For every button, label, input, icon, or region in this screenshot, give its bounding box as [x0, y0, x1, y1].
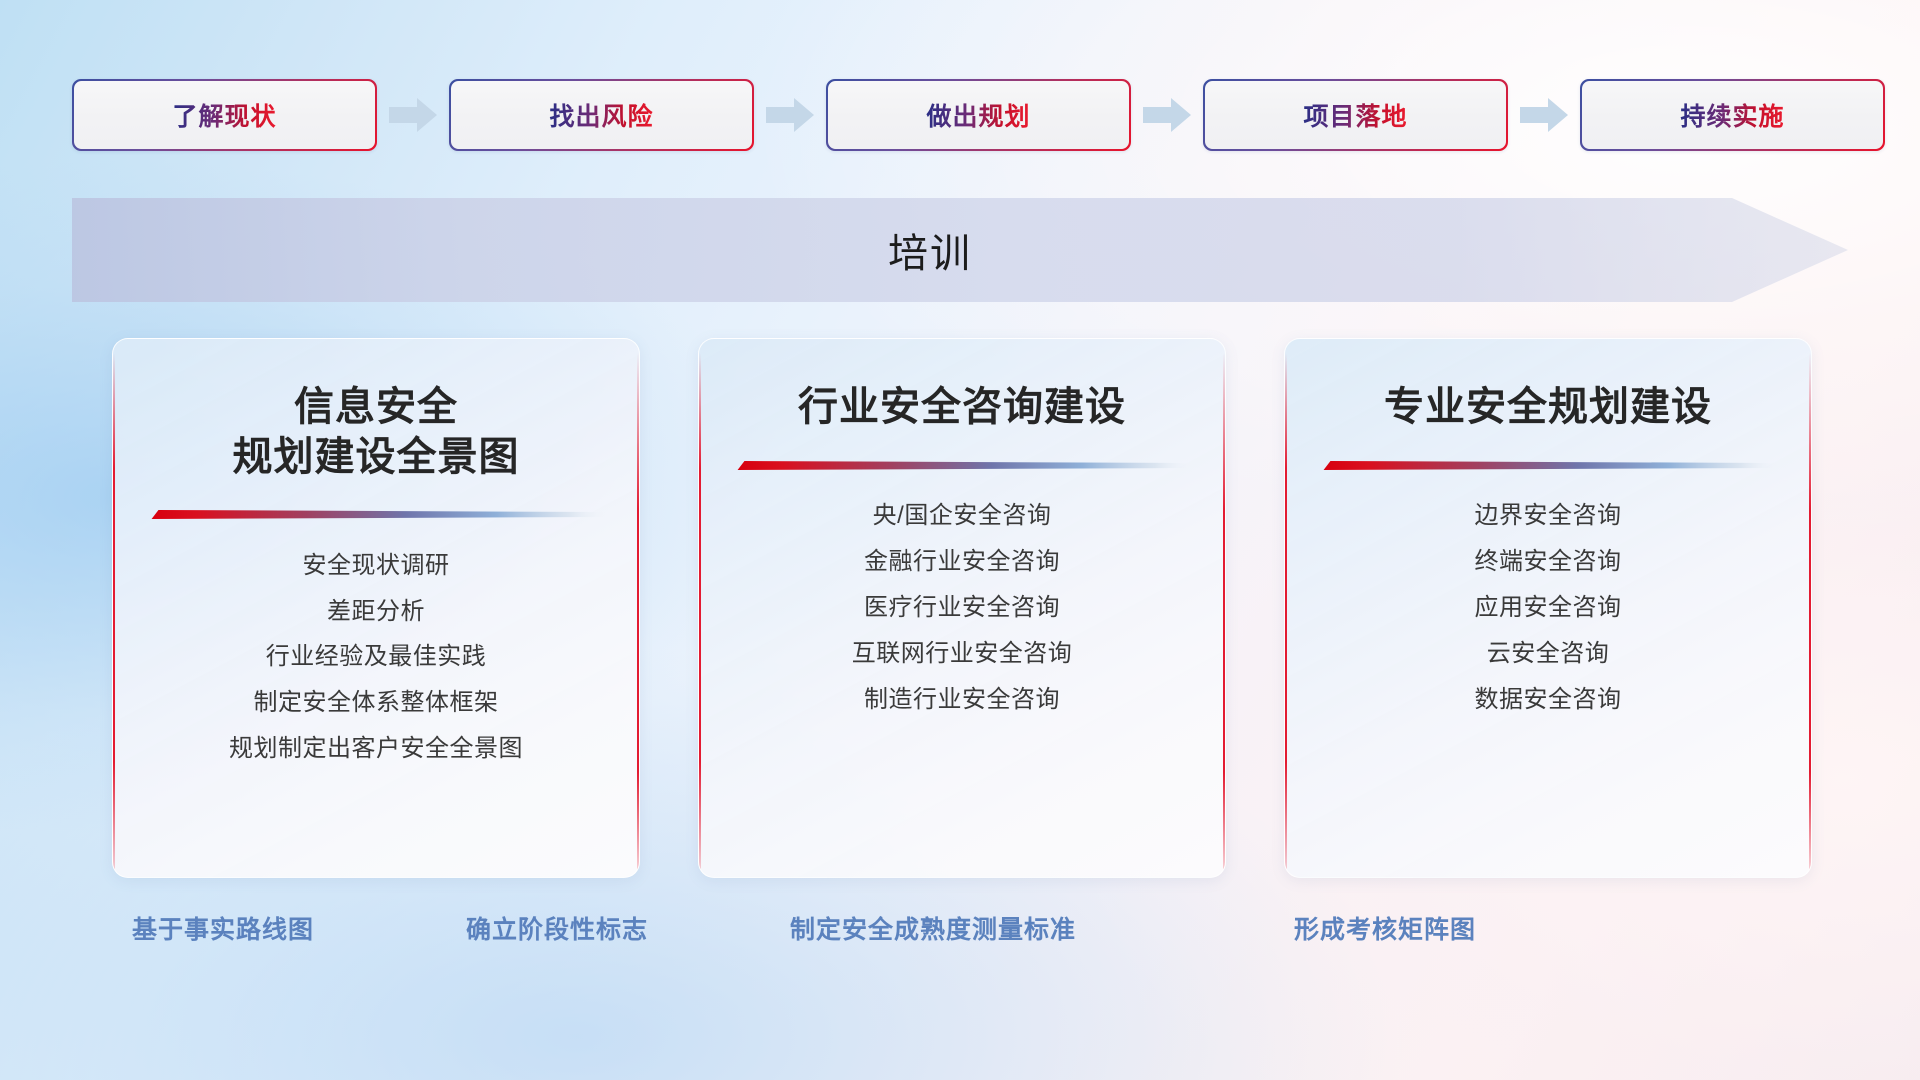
list-item: 互联网行业安全咨询: [733, 631, 1191, 677]
process-step-inner: 了解现状: [74, 81, 376, 150]
process-step-label: 做出规划: [926, 97, 1030, 133]
arrow-right-icon: [766, 98, 814, 132]
service-card-2[interactable]: 行业安全咨询建设央/国企安全咨询金融行业安全咨询医疗行业安全咨询互联网行业安全咨…: [698, 338, 1226, 878]
service-card-list: 安全现状调研差距分析行业经验及最佳实践制定安全体系整体框架规划制定出客户安全全景…: [147, 543, 605, 772]
service-card-body: 信息安全规划建设全景图安全现状调研差距分析行业经验及最佳实践制定安全体系整体框架…: [113, 339, 639, 877]
list-item: 金融行业安全咨询: [733, 539, 1191, 585]
service-card-body: 专业安全规划建设边界安全咨询终端安全咨询应用安全咨询云安全咨询数据安全咨询: [1285, 339, 1811, 877]
process-step-inner: 持续实施: [1582, 81, 1884, 150]
process-step-3[interactable]: 做出规划: [826, 79, 1131, 151]
process-step-4[interactable]: 项目落地: [1203, 79, 1508, 151]
list-item: 制造行业安全咨询: [733, 677, 1191, 723]
training-banner: 培训: [72, 198, 1848, 302]
list-item: 医疗行业安全咨询: [733, 585, 1191, 631]
list-item: 安全现状调研: [147, 543, 605, 589]
service-card-title-line1: 行业安全咨询建设: [798, 385, 1126, 429]
list-item: 边界安全咨询: [1319, 494, 1777, 540]
card-row: 信息安全规划建设全景图安全现状调研差距分析行业经验及最佳实践制定安全体系整体框架…: [112, 338, 1812, 878]
caption-4: 形成考核矩阵图: [1294, 910, 1476, 946]
service-card-title: 专业安全规划建设: [1384, 383, 1712, 433]
gradient-divider-icon: [733, 459, 1191, 472]
list-item: 终端安全咨询: [1319, 539, 1777, 585]
process-step-5[interactable]: 持续实施: [1580, 79, 1885, 151]
arrow-right-icon: [1143, 98, 1191, 132]
list-item: 制定安全体系整体框架: [147, 681, 605, 727]
process-step-label: 持续实施: [1680, 97, 1784, 133]
list-item: 差距分析: [147, 589, 605, 635]
slide-canvas: 了解现状找出风险做出规划项目落地持续实施 培训 信息安全规划建设全景图安全现状调…: [0, 0, 1920, 1080]
caption-2: 确立阶段性标志: [466, 910, 648, 946]
process-step-row: 了解现状找出风险做出规划项目落地持续实施: [72, 76, 1848, 154]
service-card-title-line2: 规划建设全景图: [233, 433, 520, 483]
process-step-label: 找出风险: [549, 97, 653, 133]
service-card-title: 信息安全规划建设全景图: [233, 383, 520, 482]
caption-3: 制定安全成熟度测量标准: [790, 910, 1076, 946]
service-card-title-line1: 专业安全规划建设: [1384, 385, 1712, 429]
list-item: 应用安全咨询: [1319, 585, 1777, 631]
service-card-body: 行业安全咨询建设央/国企安全咨询金融行业安全咨询医疗行业安全咨询互联网行业安全咨…: [699, 339, 1225, 877]
process-step-label: 项目落地: [1303, 97, 1407, 133]
caption-1: 基于事实路线图: [132, 910, 314, 946]
process-step-1[interactable]: 了解现状: [72, 79, 377, 151]
list-item: 云安全咨询: [1319, 631, 1777, 677]
gradient-divider-icon: [1319, 459, 1777, 472]
service-card-title: 行业安全咨询建设: [798, 383, 1126, 433]
service-card-list: 边界安全咨询终端安全咨询应用安全咨询云安全咨询数据安全咨询: [1319, 494, 1777, 723]
service-card-1[interactable]: 信息安全规划建设全景图安全现状调研差距分析行业经验及最佳实践制定安全体系整体框架…: [112, 338, 640, 878]
process-step-inner: 项目落地: [1205, 81, 1507, 150]
gradient-divider-icon: [147, 508, 605, 521]
caption-row: 基于事实路线图确立阶段性标志制定安全成熟度测量标准形成考核矩阵图: [0, 910, 1920, 960]
list-item: 规划制定出客户安全全景图: [147, 727, 605, 773]
service-card-list: 央/国企安全咨询金融行业安全咨询医疗行业安全咨询互联网行业安全咨询制造行业安全咨…: [733, 494, 1191, 723]
banner-title: 培训: [72, 198, 1848, 302]
list-item: 数据安全咨询: [1319, 677, 1777, 723]
list-item: 行业经验及最佳实践: [147, 635, 605, 681]
process-step-2[interactable]: 找出风险: [449, 79, 754, 151]
service-card-3[interactable]: 专业安全规划建设边界安全咨询终端安全咨询应用安全咨询云安全咨询数据安全咨询: [1284, 338, 1812, 878]
arrow-right-icon: [389, 98, 437, 132]
process-step-inner: 找出风险: [451, 81, 753, 150]
list-item: 央/国企安全咨询: [733, 494, 1191, 540]
process-step-inner: 做出规划: [828, 81, 1130, 150]
arrow-right-icon: [1520, 98, 1568, 132]
service-card-title-line1: 信息安全: [294, 385, 458, 429]
process-step-label: 了解现状: [172, 97, 276, 133]
